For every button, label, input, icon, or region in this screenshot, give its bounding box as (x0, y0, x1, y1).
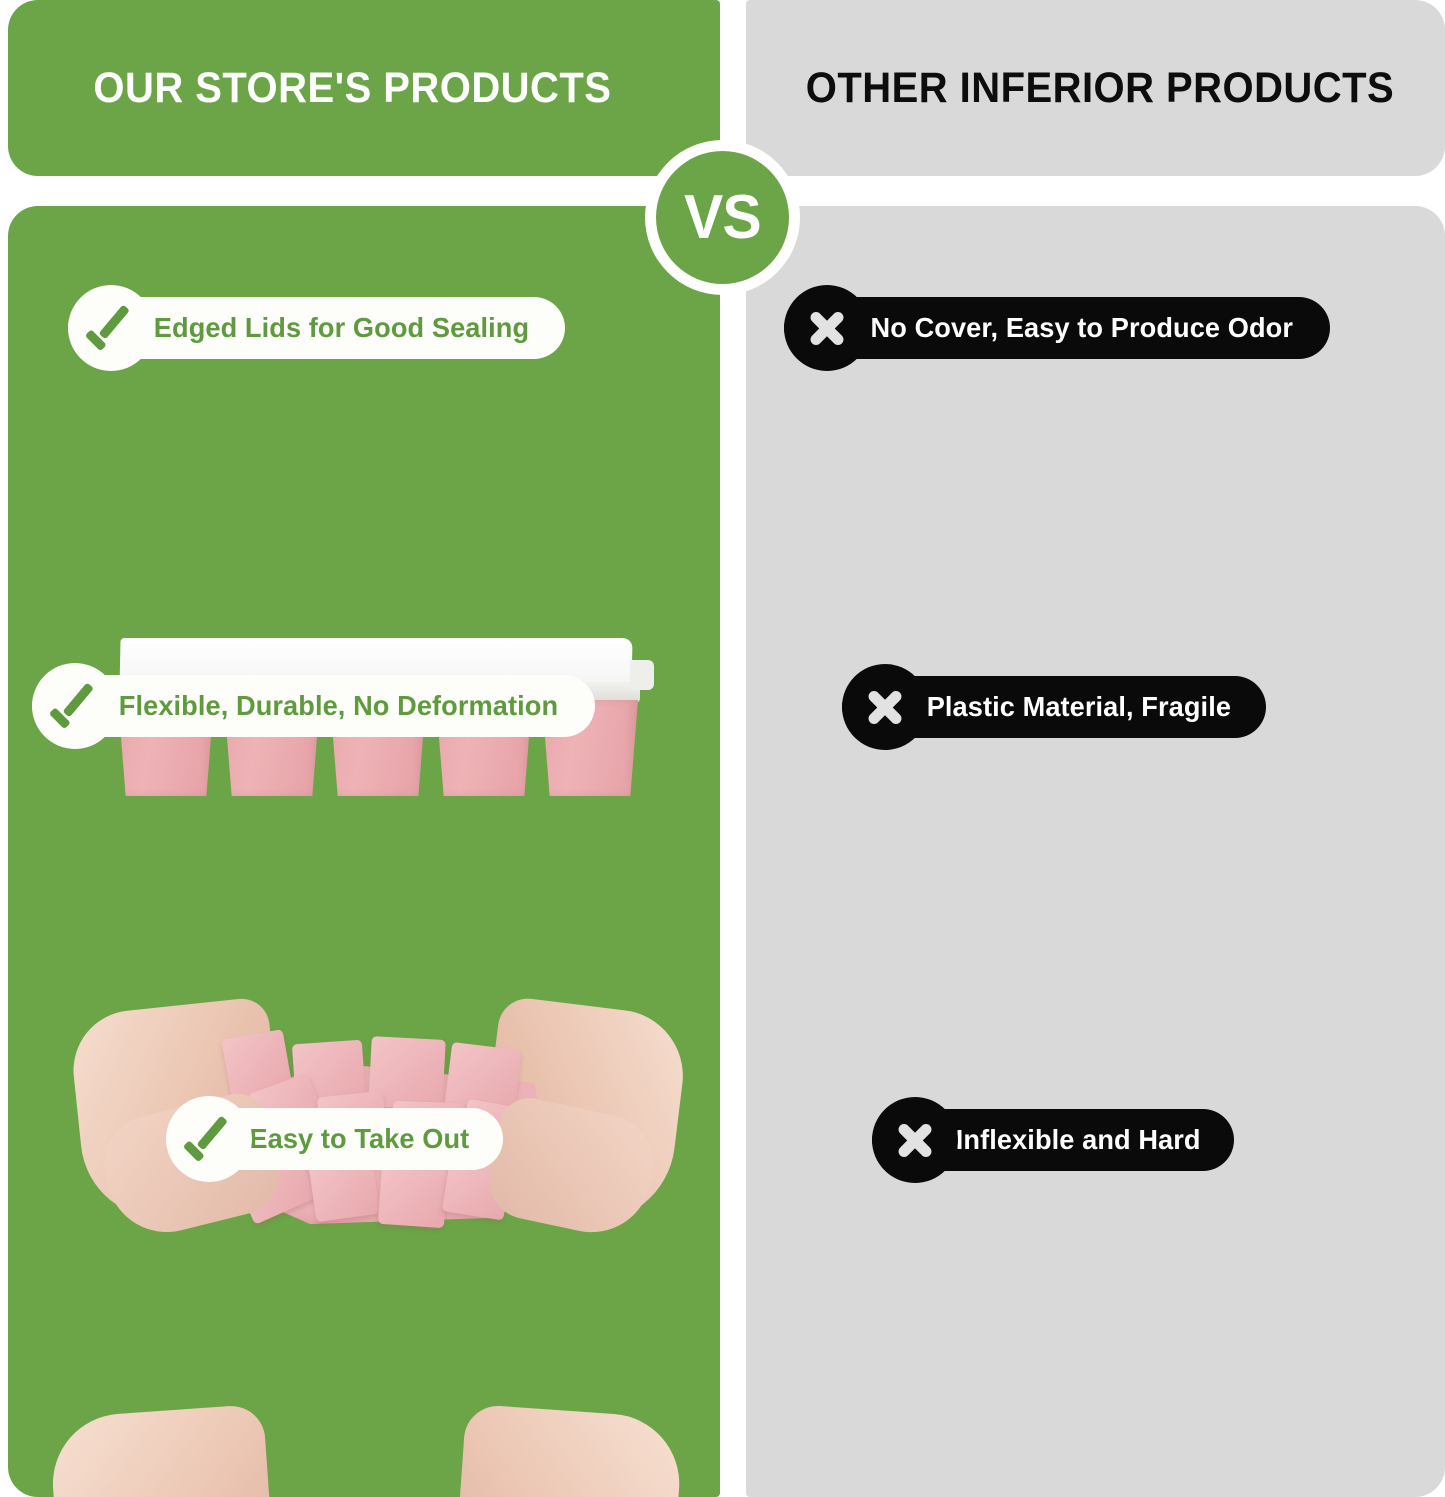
close-icon (872, 1097, 958, 1183)
feature-badge-left-3[interactable]: Easy to Take Out (166, 1108, 503, 1170)
vs-label: VS (684, 187, 761, 249)
feature-badge-right-1[interactable]: No Cover, Easy to Produce Odor (784, 297, 1330, 359)
feature-badge-label: Plastic Material, Fragile (927, 691, 1231, 723)
tray-cube (378, 1162, 448, 1228)
check-icon (166, 1096, 252, 1182)
vs-badge: VS (645, 140, 800, 295)
page-title-right: OTHER INFERIOR PRODUCTS (797, 64, 1395, 113)
close-icon (784, 285, 870, 371)
feature-badge-label: Edged Lids for Good Sealing (154, 312, 529, 344)
feature-badge-label: Flexible, Durable, No Deformation (119, 690, 558, 722)
close-icon-glyph (862, 684, 908, 730)
content-panel-left (8, 206, 720, 1497)
check-icon (68, 285, 154, 371)
check-icon-glyph (186, 1124, 232, 1154)
feature-badge-left-2[interactable]: Flexible, Durable, No Deformation (32, 675, 595, 737)
right-hand (450, 1404, 684, 1497)
close-icon-glyph (892, 1117, 938, 1163)
left-hand (48, 1404, 279, 1497)
page-title-left: OUR STORE'S PRODUCTS (93, 64, 635, 113)
header-panel-right: OTHER INFERIOR PRODUCTS (746, 0, 1445, 176)
header-panel-left: OUR STORE'S PRODUCTS (8, 0, 720, 176)
image-hands-bending-tray (56, 1411, 676, 1497)
content-panel-right (746, 206, 1445, 1497)
check-icon-glyph (52, 691, 98, 721)
feature-badge-label: Easy to Take Out (249, 1123, 469, 1155)
feature-badge-left-1[interactable]: Edged Lids for Good Sealing (68, 297, 565, 359)
feature-badge-right-2[interactable]: Plastic Material, Fragile (842, 676, 1266, 738)
close-icon (842, 664, 928, 750)
check-icon (32, 663, 118, 749)
vs-badge-circle: VS (656, 151, 789, 284)
check-icon-glyph (88, 313, 134, 343)
feature-badge-right-3[interactable]: Inflexible and Hard (872, 1109, 1234, 1171)
comparison-infographic: OUR STORE'S PRODUCTS OTHER INFERIOR PROD… (0, 0, 1445, 1497)
close-icon-glyph (804, 305, 850, 351)
feature-badge-label: No Cover, Easy to Produce Odor (871, 312, 1293, 344)
feature-badge-label: Inflexible and Hard (956, 1124, 1201, 1156)
tray-lid-tab (630, 660, 654, 690)
